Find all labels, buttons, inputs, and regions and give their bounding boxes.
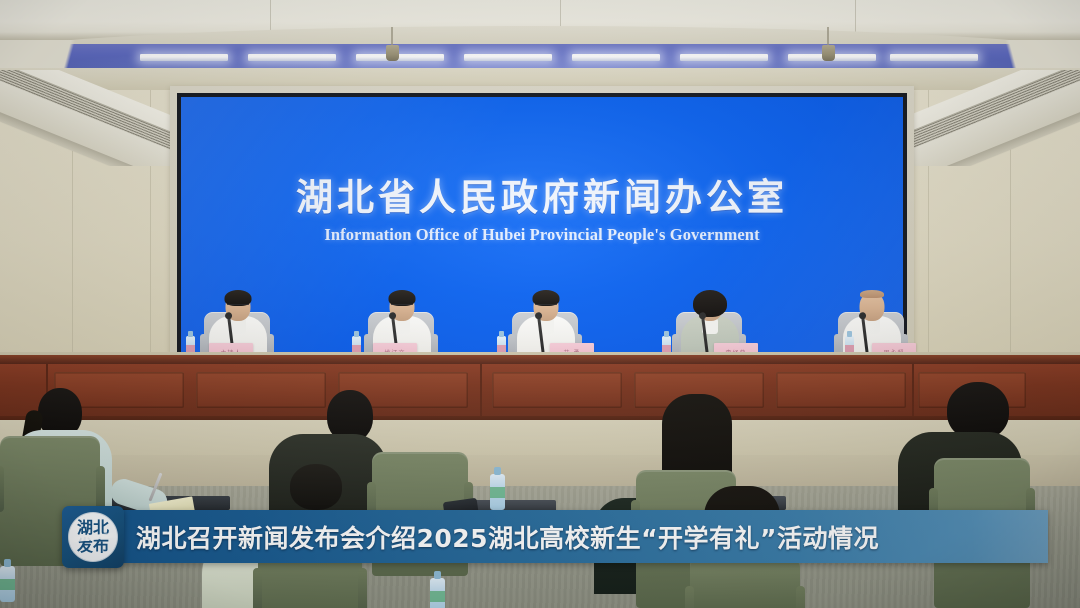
water-bottle — [430, 578, 445, 608]
panel-member-hair — [860, 290, 884, 298]
ceiling-light-fixture — [248, 54, 336, 61]
ceiling-light-fixture — [680, 54, 768, 61]
panel-dais-table — [0, 355, 1080, 425]
ceiling-speaker-icon — [822, 45, 835, 61]
logo-text-line2: 发布 — [77, 538, 109, 554]
video-frame: 湖北省人民政府新闻办公室 Information Office of Hubei… — [0, 0, 1080, 608]
logo-text-line1: 湖北 — [77, 520, 109, 536]
lower-third-banner: 湖北召开新闻发布会介绍2025湖北高校新生“开学有礼”活动情况 — [96, 510, 1048, 563]
audience-chair — [690, 556, 800, 608]
screen-text-block: 湖北省人民政府新闻办公室 Information Office of Hubei… — [181, 177, 903, 245]
ceiling-light-fixture — [464, 54, 552, 61]
panel-member-hair — [693, 290, 727, 317]
glasses-icon — [227, 304, 249, 309]
water-bottle — [0, 566, 15, 602]
channel-logo-badge[interactable]: 湖北 发布 — [62, 506, 124, 568]
dais-section-divider — [480, 364, 482, 416]
screen-title-chinese: 湖北省人民政府新闻办公室 — [181, 177, 903, 218]
banner-headline: 湖北召开新闻发布会介绍2025湖北高校新生“开学有礼”活动情况 — [96, 519, 879, 555]
dais-section-divider — [912, 364, 914, 416]
screen-title-english: Information Office of Hubei Provincial P… — [181, 225, 903, 245]
dais-counter-top — [0, 355, 1080, 364]
glasses-icon — [535, 304, 557, 309]
logo-circle: 湖北 发布 — [68, 512, 118, 562]
dais-recessed-panel — [492, 372, 622, 408]
audience-member-head — [290, 464, 342, 510]
glasses-icon — [391, 304, 413, 309]
water-bottle — [490, 474, 505, 510]
ceiling-light-fixture — [356, 54, 444, 61]
dais-recessed-panel — [196, 372, 326, 408]
ceiling-light-fixture — [572, 54, 660, 61]
dais-recessed-panel — [776, 372, 906, 408]
ceiling-speaker-icon — [386, 45, 399, 61]
